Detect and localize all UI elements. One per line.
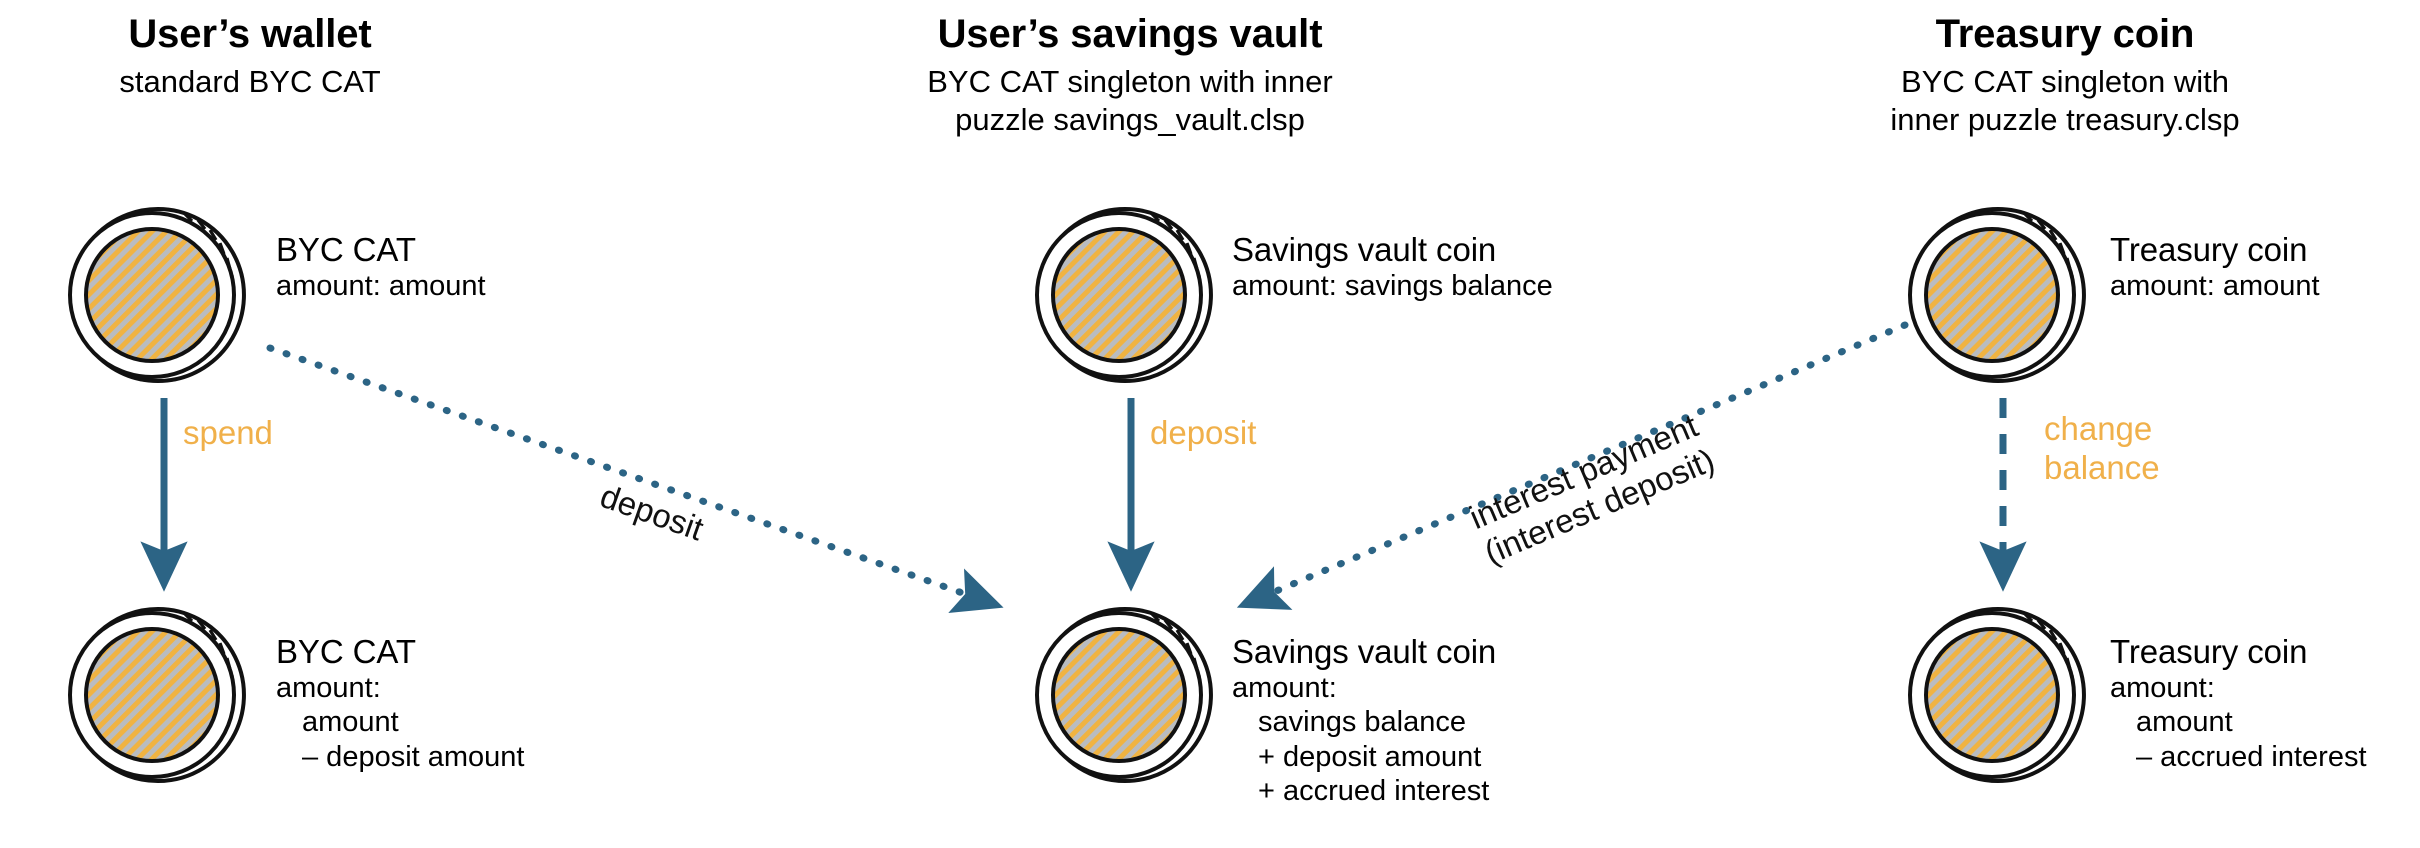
coin-amount-line: amount [276, 705, 524, 739]
coin-label-vault-bottom: Savings vault coin amount: savings balan… [1232, 632, 1496, 809]
coin-amount-line: – accrued interest [2110, 740, 2367, 774]
coin-amount-line: amount: [276, 671, 524, 705]
coin-name: Savings vault coin [1232, 632, 1496, 671]
coin-treasury-top [1908, 205, 2088, 385]
coin-wallet-top [68, 205, 248, 385]
coin-amount-line: – deposit amount [276, 740, 524, 774]
coin-name: BYC CAT [276, 632, 524, 671]
coin-amount-line: amount: amount [2110, 269, 2320, 303]
arrow-label-deposit-vertical: deposit [1122, 414, 1256, 453]
coin-name: BYC CAT [276, 230, 486, 269]
coin-icon [68, 605, 248, 785]
coin-icon [1035, 205, 1215, 385]
coin-label-wallet-bottom: BYC CAT amount: amount – deposit amount [276, 632, 524, 774]
coin-icon [1908, 605, 2088, 785]
coin-treasury-bottom [1908, 605, 2088, 785]
coin-amount-line: amount: [1232, 671, 1496, 705]
coin-name: Treasury coin [2110, 632, 2367, 671]
coin-icon [1908, 205, 2088, 385]
coin-name: Treasury coin [2110, 230, 2320, 269]
coin-label-vault-top: Savings vault coin amount: savings balan… [1232, 230, 1553, 303]
coin-label-treasury-top: Treasury coin amount: amount [2110, 230, 2320, 303]
coin-vault-bottom [1035, 605, 1215, 785]
coin-icon [1035, 605, 1215, 785]
coin-label-treasury-bottom: Treasury coin amount: amount – accrued i… [2110, 632, 2367, 774]
coin-amount-line: savings balance [1232, 705, 1496, 739]
arrow-label-change-balance: change balance [2044, 410, 2160, 488]
coin-amount-line: amount: savings balance [1232, 269, 1553, 303]
coin-amount-line: amount: amount [276, 269, 486, 303]
change-balance-line-1: change [2044, 410, 2160, 449]
coin-wallet-bottom [68, 605, 248, 785]
coin-amount-line: + accrued interest [1232, 774, 1496, 808]
diagram-canvas: User’s wallet standard BYC CAT User’s sa… [0, 0, 2420, 848]
coin-icon [68, 205, 248, 385]
coin-name: Savings vault coin [1232, 230, 1553, 269]
change-balance-line-2: balance [2044, 449, 2160, 488]
coin-vault-top [1035, 205, 1215, 385]
coin-amount-line: amount [2110, 705, 2367, 739]
coin-amount-line: amount: [2110, 671, 2367, 705]
arrow-deposit-diagonal [270, 348, 985, 601]
coin-label-wallet-top: BYC CAT amount: amount [276, 230, 486, 303]
arrow-label-spend: spend [183, 414, 273, 453]
coin-amount-line: + deposit amount [1232, 740, 1496, 774]
